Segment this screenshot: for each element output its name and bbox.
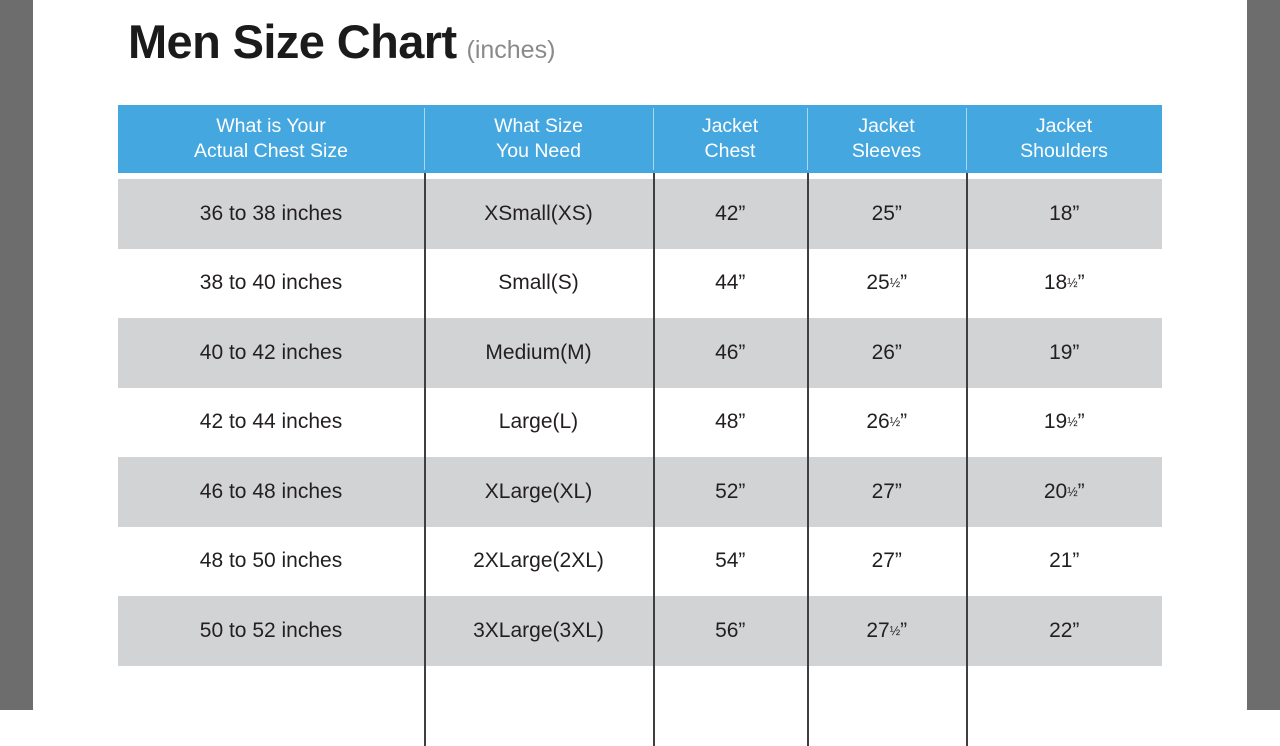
- header-line-2: You Need: [496, 139, 581, 164]
- column-divider-1: [424, 173, 426, 746]
- page-title-units: (inches): [467, 38, 556, 63]
- table-cell-size-name: 3XLarge(3XL): [424, 596, 653, 666]
- table-cell-jacket-sleeves: 27”: [807, 527, 966, 597]
- header-line-2: Chest: [705, 139, 756, 164]
- table-cell-jacket-sleeves: 25½”: [807, 249, 966, 319]
- header-line-1: Jacket: [858, 114, 914, 139]
- table-cell-jacket-shoulders: 20½”: [966, 457, 1162, 527]
- table-cell-size-name: Large(L): [424, 388, 653, 458]
- header-line-1: What is Your: [216, 114, 325, 139]
- table-cell-chest-range: 42 to 44 inches: [118, 388, 424, 458]
- table-cell-chest-range: 46 to 48 inches: [118, 457, 424, 527]
- column-divider-3: [807, 173, 809, 746]
- table-cell-jacket-sleeves: 26”: [807, 318, 966, 388]
- table-cell-jacket-chest: 54”: [653, 527, 807, 597]
- table-header-cell: What SizeYou Need: [424, 105, 653, 173]
- header-line-2: Shoulders: [1020, 139, 1108, 164]
- table-cell-size-name: 2XLarge(2XL): [424, 527, 653, 597]
- table-header-cell: JacketChest: [653, 105, 807, 173]
- table-cell-jacket-chest: 44”: [653, 249, 807, 319]
- table-cell-size-name: Small(S): [424, 249, 653, 319]
- size-chart-table: What is YourActual Chest SizeWhat SizeYo…: [118, 105, 1162, 666]
- table-cell-jacket-sleeves: 25”: [807, 179, 966, 249]
- table-row: 42 to 44 inchesLarge(L)48”26½”19½”: [118, 388, 1162, 458]
- header-line-1: Jacket: [702, 114, 758, 139]
- table-cell-jacket-shoulders: 21”: [966, 527, 1162, 597]
- table-header-row: What is YourActual Chest SizeWhat SizeYo…: [118, 105, 1162, 173]
- table-cell-size-name: Medium(M): [424, 318, 653, 388]
- table-cell-jacket-sleeves: 26½”: [807, 388, 966, 458]
- table-cell-jacket-chest: 48”: [653, 388, 807, 458]
- table-body: 36 to 38 inchesXSmall(XS)42”25”18”38 to …: [118, 179, 1162, 666]
- table-row: 50 to 52 inches3XLarge(3XL)56”27½”22”: [118, 596, 1162, 666]
- table-cell-jacket-chest: 56”: [653, 596, 807, 666]
- table-cell-size-name: XSmall(XS): [424, 179, 653, 249]
- table-cell-jacket-shoulders: 22”: [966, 596, 1162, 666]
- column-divider-2: [653, 173, 655, 746]
- table-cell-jacket-shoulders: 19½”: [966, 388, 1162, 458]
- table-header-cell: JacketShoulders: [966, 105, 1162, 173]
- table-cell-size-name: XLarge(XL): [424, 457, 653, 527]
- table-cell-chest-range: 36 to 38 inches: [118, 179, 424, 249]
- header-line-1: Jacket: [1036, 114, 1092, 139]
- header-line-1: What Size: [494, 114, 583, 139]
- table-header-cell: What is YourActual Chest Size: [118, 105, 424, 173]
- table-header-cell: JacketSleeves: [807, 105, 966, 173]
- header-line-2: Actual Chest Size: [194, 139, 348, 164]
- header-line-2: Sleeves: [852, 139, 921, 164]
- table-row: 46 to 48 inchesXLarge(XL)52”27”20½”: [118, 457, 1162, 527]
- table-cell-chest-range: 40 to 42 inches: [118, 318, 424, 388]
- table-cell-jacket-sleeves: 27”: [807, 457, 966, 527]
- table-cell-chest-range: 38 to 40 inches: [118, 249, 424, 319]
- table-cell-jacket-sleeves: 27½”: [807, 596, 966, 666]
- table-cell-chest-range: 50 to 52 inches: [118, 596, 424, 666]
- table-cell-jacket-chest: 52”: [653, 457, 807, 527]
- table-cell-chest-range: 48 to 50 inches: [118, 527, 424, 597]
- table-row: 36 to 38 inchesXSmall(XS)42”25”18”: [118, 179, 1162, 249]
- table-cell-jacket-chest: 46”: [653, 318, 807, 388]
- page-title: Men Size Chart (inches): [128, 18, 555, 65]
- table-row: 48 to 50 inches2XLarge(2XL)54”27”21”: [118, 527, 1162, 597]
- column-divider-4: [966, 173, 968, 746]
- page-title-main: Men Size Chart: [128, 18, 457, 65]
- table-row: 38 to 40 inchesSmall(S)44”25½”18½”: [118, 249, 1162, 319]
- letterbox-right: [1247, 0, 1280, 710]
- letterbox-left: [0, 0, 33, 710]
- table-cell-jacket-chest: 42”: [653, 179, 807, 249]
- slide-canvas: Men Size Chart (inches) What is YourActu…: [33, 0, 1247, 710]
- table-cell-jacket-shoulders: 18”: [966, 179, 1162, 249]
- table-cell-jacket-shoulders: 18½”: [966, 249, 1162, 319]
- table-cell-jacket-shoulders: 19”: [966, 318, 1162, 388]
- table-row: 40 to 42 inchesMedium(M)46”26”19”: [118, 318, 1162, 388]
